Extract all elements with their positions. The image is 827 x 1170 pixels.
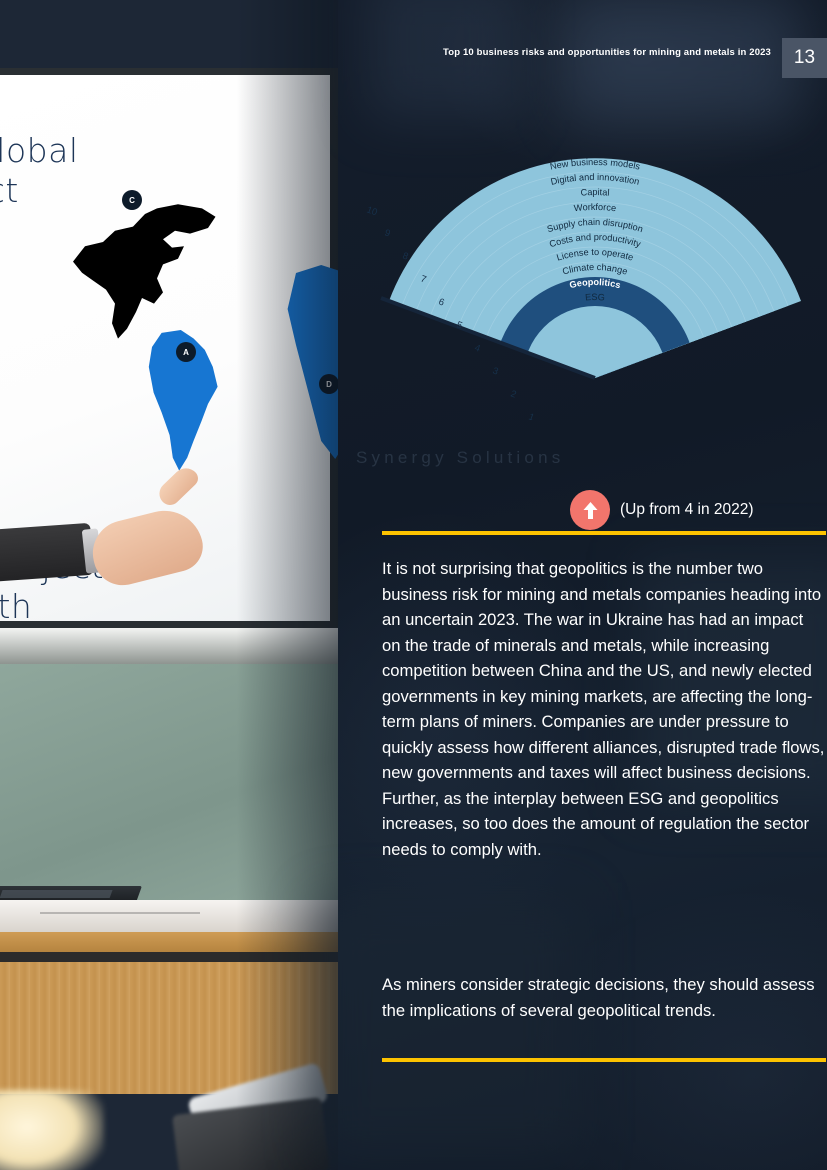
wood-panel-upper <box>0 932 338 952</box>
rank-tick-8: 8 <box>401 250 410 262</box>
whiteboard-text-line-1: global <box>0 131 79 170</box>
whiteboard-text-line-2: act <box>0 171 19 210</box>
divider-rule-top <box>382 531 826 535</box>
risk-fan-chart: 10 9 8 7 6 5 4 3 2 1 ESG <box>336 120 825 420</box>
panel-gap <box>0 952 338 962</box>
rank-tick-3: 3 <box>491 365 500 377</box>
pointing-hand <box>86 503 208 592</box>
label-workforce: Workforce <box>573 202 616 213</box>
rank-change-text: (Up from 4 in 2022) <box>620 501 754 519</box>
conference-room-photo <box>0 628 338 1170</box>
board-frame <box>0 628 338 664</box>
fan-chart-svg: 10 9 8 7 6 5 4 3 2 1 ESG <box>336 120 825 420</box>
background-blur-5 <box>318 900 578 1160</box>
rank-tick-9: 9 <box>383 227 392 239</box>
world-map-europe-africa <box>282 265 338 465</box>
whiteboard-text-line-4: wth <box>0 587 32 626</box>
desk-lamp-glow <box>0 1090 104 1170</box>
running-header-title: Top 10 business risks and opportunities … <box>443 47 771 58</box>
page-number-badge: 13 <box>782 38 827 78</box>
body-paragraph-2: As miners consider strategic decisions, … <box>382 972 826 1023</box>
page-root: global act projected wth C A D <box>0 0 827 1170</box>
whiteboard-surface: global act projected wth C A D <box>0 75 330 621</box>
map-marker-c: C <box>122 190 142 210</box>
rank-tick-1: 1 <box>527 411 536 420</box>
rank-tick-4: 4 <box>473 342 482 354</box>
label-esg: ESG <box>585 292 605 303</box>
up-arrow-icon <box>570 490 610 530</box>
whiteboard-frame: global act projected wth C A D <box>0 68 338 628</box>
body-paragraph-1: It is not surprising that geopolitics is… <box>382 556 826 862</box>
rank-tick-10: 10 <box>365 204 379 218</box>
suit-sleeve <box>0 523 94 583</box>
content-panel: Top 10 business risks and opportunities … <box>338 0 827 1170</box>
background-blur-1 <box>368 0 518 120</box>
chalkboard <box>0 664 338 900</box>
divider-rule-bottom <box>382 1058 826 1062</box>
photo-panel: global act projected wth C A D <box>0 0 338 1170</box>
rank-tick-2: 2 <box>509 388 518 400</box>
watermark-text: Synergy Solutions <box>356 448 564 468</box>
label-capital: Capital <box>580 187 610 198</box>
background-blur-2 <box>568 0 798 120</box>
rank-change-annotation: (Up from 4 in 2022) <box>570 490 754 530</box>
marble-ledge <box>0 900 338 932</box>
map-marker-a: A <box>176 342 196 362</box>
index-finger <box>155 463 202 509</box>
world-map-north-america <box>70 200 220 340</box>
